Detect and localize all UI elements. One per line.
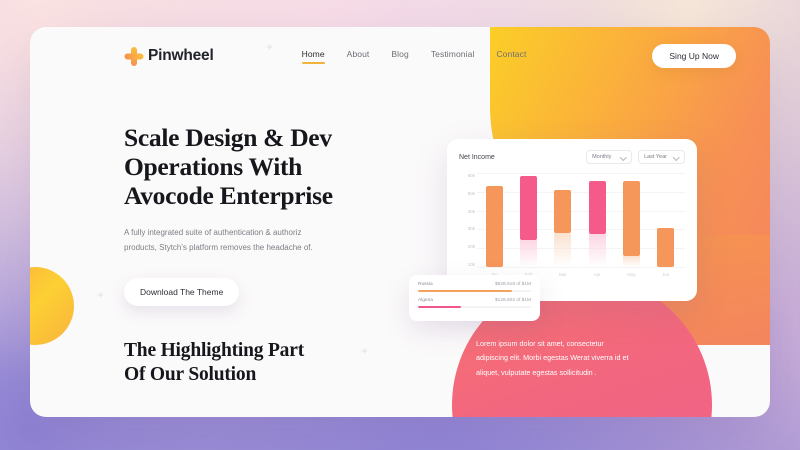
period-select[interactable]: Monthly bbox=[586, 150, 632, 164]
stat-amount-label: $828,918 of $1M bbox=[495, 282, 531, 287]
country-stats-card: Russia$828,918 of $1MAlgeria$128,602 of … bbox=[409, 275, 540, 321]
brand-logo[interactable]: Pinwheel bbox=[124, 47, 214, 66]
chart-y-tick: 10k bbox=[459, 262, 475, 267]
nav-item-blog[interactable]: Blog bbox=[391, 49, 408, 64]
chart-bar[interactable] bbox=[486, 173, 503, 267]
decorative-yellow-circle bbox=[30, 267, 74, 345]
chart-bar[interactable] bbox=[657, 173, 674, 267]
bar-chart-plot: 60k50k40k30k20k10k JanFebMarAprMayJun bbox=[459, 173, 685, 285]
chart-bar[interactable] bbox=[623, 173, 640, 267]
chevron-down-icon bbox=[621, 155, 626, 160]
chart-bar[interactable] bbox=[554, 173, 571, 267]
bottom-paragraph-line-1: Lorem ipsum dolor sit amet, consectetur bbox=[476, 339, 604, 348]
range-select-value: Last Year bbox=[644, 154, 667, 160]
sparkle-icon: ✦ bbox=[96, 289, 105, 302]
bottom-paragraph-line-2: adipiscing elit. Morbi egestas Werat viv… bbox=[476, 353, 628, 362]
chart-card-header: Net Income Monthly Last Year bbox=[459, 150, 685, 164]
stat-country-label: Russia bbox=[418, 282, 433, 287]
chart-x-tick: Mar bbox=[554, 272, 571, 277]
chart-y-tick: 20k bbox=[459, 244, 475, 249]
stat-row: Algeria$128,602 of $1M bbox=[418, 298, 531, 308]
main-navigation: Home About Blog Testimonial Contact bbox=[302, 49, 527, 64]
hero-subtitle: A fully integrated suite of authenticati… bbox=[124, 226, 362, 256]
stat-progress-track bbox=[418, 290, 531, 293]
nav-item-about[interactable]: About bbox=[347, 49, 370, 64]
brand-name: Pinwheel bbox=[148, 47, 214, 65]
chart-y-tick: 60k bbox=[459, 173, 475, 178]
chart-gridline bbox=[477, 267, 685, 268]
chart-bar-fade bbox=[589, 234, 606, 267]
sparkle-icon: ✦ bbox=[360, 345, 369, 358]
hero-subtitle-line-1: A fully integrated suite of authenticati… bbox=[124, 228, 301, 237]
stat-amount-label: $128,602 of $1M bbox=[495, 298, 531, 303]
nav-item-contact[interactable]: Contact bbox=[496, 49, 526, 64]
stat-row-header: Algeria$128,602 of $1M bbox=[418, 298, 531, 303]
stat-row-header: Russia$828,918 of $1M bbox=[418, 282, 531, 287]
chart-bar-solid bbox=[486, 186, 503, 267]
chevron-down-icon bbox=[674, 155, 679, 160]
chart-bar-solid bbox=[589, 181, 606, 234]
signup-button[interactable]: Sing Up Now bbox=[652, 44, 736, 68]
nav-item-home[interactable]: Home bbox=[302, 49, 325, 64]
chart-bar[interactable] bbox=[520, 173, 537, 267]
landing-page-card: ✦ ✦ ✦ Pinwheel Home About Blog Testimoni… bbox=[30, 27, 770, 417]
range-select[interactable]: Last Year bbox=[638, 150, 685, 164]
chart-y-tick: 40k bbox=[459, 209, 475, 214]
chart-bar[interactable] bbox=[589, 173, 606, 267]
chart-y-axis: 60k50k40k30k20k10k bbox=[459, 173, 475, 267]
stat-row: Russia$828,918 of $1M bbox=[418, 282, 531, 292]
chart-filters: Monthly Last Year bbox=[586, 150, 685, 164]
chart-bar-solid bbox=[554, 190, 571, 232]
stat-progress-fill bbox=[418, 290, 512, 293]
download-theme-button[interactable]: Download The Theme bbox=[124, 278, 239, 306]
hero-title: Scale Design & Dev Operations With Avoco… bbox=[124, 123, 404, 210]
stat-country-label: Algeria bbox=[418, 298, 433, 303]
period-select-value: Monthly bbox=[592, 154, 611, 160]
chart-bar-fade bbox=[623, 256, 640, 267]
chart-bar-fade bbox=[520, 240, 537, 267]
chart-y-tick: 50k bbox=[459, 191, 475, 196]
bottom-section-title: The Highlighting Part Of Our Solution bbox=[124, 339, 304, 387]
chart-bars bbox=[477, 173, 683, 267]
bottom-paragraph: Lorem ipsum dolor sit amet, consectetur … bbox=[476, 337, 680, 381]
hero-section: Scale Design & Dev Operations With Avoco… bbox=[124, 123, 404, 306]
hero-subtitle-line-2: products, Stytch's platform removes the … bbox=[124, 243, 313, 252]
chart-title: Net Income bbox=[459, 154, 495, 161]
stat-progress-track bbox=[418, 306, 531, 309]
chart-x-tick: Jun bbox=[657, 272, 674, 277]
chart-x-tick: Apr bbox=[589, 272, 606, 277]
hero-title-line-1: Scale Design & Dev bbox=[124, 123, 332, 152]
hero-title-line-2: Operations With bbox=[124, 152, 302, 181]
chart-bar-fade bbox=[554, 233, 571, 267]
pinwheel-icon bbox=[124, 47, 143, 66]
chart-y-tick: 30k bbox=[459, 226, 475, 231]
site-header: Pinwheel Home About Blog Testimonial Con… bbox=[30, 27, 770, 85]
chart-bar-solid bbox=[657, 228, 674, 267]
hero-title-line-3: Avocode Enterprise bbox=[124, 181, 333, 210]
bottom-title-line-1: The Highlighting Part bbox=[124, 340, 304, 361]
chart-bar-solid bbox=[623, 181, 640, 256]
bottom-title-line-2: Of Our Solution bbox=[124, 364, 256, 385]
stat-progress-fill bbox=[418, 306, 461, 309]
nav-item-testimonial[interactable]: Testimonial bbox=[431, 49, 475, 64]
bottom-paragraph-line-3: aliquet, vulputate egestas sollicitudin … bbox=[476, 368, 597, 377]
chart-x-tick: May bbox=[623, 272, 640, 277]
chart-bar-solid bbox=[520, 176, 537, 240]
